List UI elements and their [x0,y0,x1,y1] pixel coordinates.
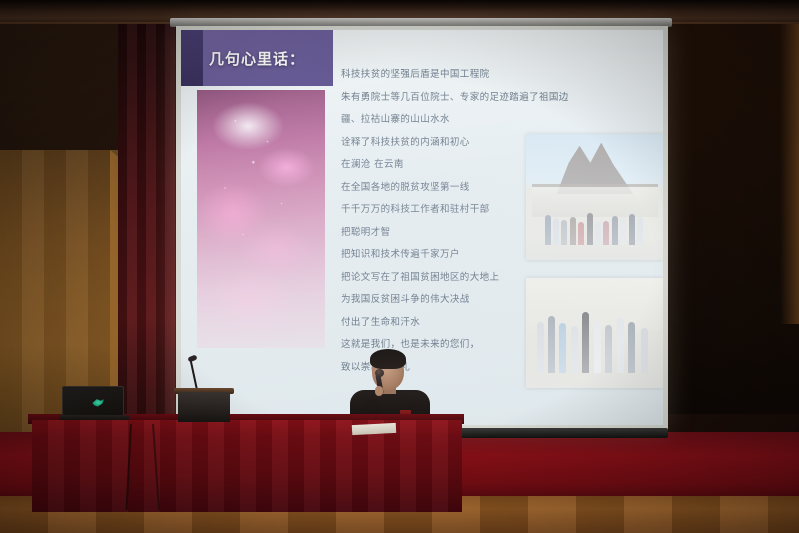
slide-line: 付出了生命和汗水 [341,312,527,335]
laptop-base [59,415,129,420]
laptop-lid [62,386,124,416]
indoor-group-photo [526,278,663,388]
presenter-mic-hand [375,386,383,396]
microphone-head [375,369,384,377]
auditorium-scene: 几句心里话： 科技扶贫的坚强后盾是中国工程院 朱有勇院士等几百位院士、专家的足迹… [0,0,799,533]
presenter-hair [370,349,406,369]
photo-washout [526,278,663,388]
slide-line: 疆、拉祜山寨的山山水水 [341,109,527,132]
table-red-skirt [32,420,462,512]
slide-line: 把聪明才智 [341,222,527,245]
slide-line: 为我国反贫困斗争的伟大决战 [341,289,527,312]
blossom-photo-washout [197,90,325,348]
slide-line: 朱有勇院士等几百位院士、专家的足迹踏遍了祖国边 [341,87,527,110]
rog-logo-icon [91,398,105,407]
photo-washout [526,134,663,260]
slide-body-text: 科技扶贫的坚强后盾是中国工程院 朱有勇院士等几百位院士、专家的足迹踏遍了祖国边 … [341,64,527,379]
slide-line: 诠释了科技扶贫的内涵和初心 [341,132,527,155]
slide-line: 把知识和技术传遍千家万户 [341,244,527,267]
slide-title: 几句心里话： [181,30,333,86]
slide-line: 千千万万的科技工作者和驻村干部 [341,199,527,222]
podium-lectern [178,392,230,422]
right-wall-light-glow [780,24,799,324]
asus-rog-laptop[interactable] [62,386,130,420]
slide-line: 把论文写在了祖国贫困地区的大地上 [341,267,527,290]
slide-line: 在澜沧 在云南 [341,154,527,177]
slide-line: 科技扶贫的坚强后盾是中国工程院 [341,64,527,87]
village-group-photo [526,134,663,260]
slide-line: 在全国各地的脱贫攻坚第一线 [341,177,527,200]
